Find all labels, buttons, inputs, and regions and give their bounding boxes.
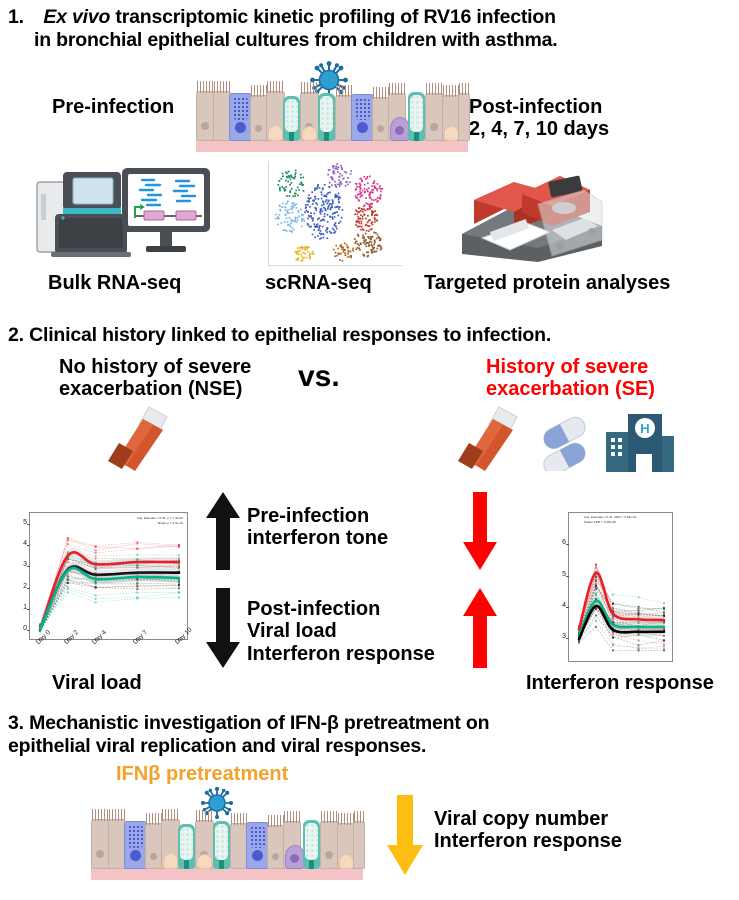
section-2-title: Clinical history linked to epithelial re… <box>29 324 551 346</box>
cluster-plot-icon <box>268 161 402 266</box>
chart-viral-load <box>29 512 188 640</box>
arrow-down-red-icon <box>462 492 498 570</box>
y-tick-label: 3 <box>15 561 27 568</box>
epithelial-cell-row <box>196 79 468 141</box>
infected-cell <box>351 94 374 141</box>
y-tick-mark <box>566 544 569 545</box>
infected-cell <box>124 821 147 869</box>
section-1-heading: 1. Ex vivo transcriptomic kinetic profil… <box>8 6 728 52</box>
y-tick-label: 5 <box>15 519 27 526</box>
post-infection-outcomes-label: Post-infection Viral load Interferon res… <box>247 598 435 665</box>
x-tick-mark <box>67 638 68 641</box>
nse-line2: exacerbation (NSE) <box>59 378 251 400</box>
section-3-number: 3. <box>8 712 24 734</box>
infected-cell <box>229 93 252 141</box>
y-tick-mark <box>566 576 569 577</box>
pre-infection-tone-label: Pre-infection interferon tone <box>247 505 388 550</box>
goblet-cell <box>283 96 300 141</box>
ciliated-cell <box>458 93 470 141</box>
goblet-cell <box>213 821 230 869</box>
epithelium-bottom <box>91 818 363 880</box>
arrow-up-red-icon <box>462 588 498 668</box>
pre-infection-label: Pre-infection <box>52 96 174 118</box>
section-1-title-rest: transcriptomic kinetic profiling of RV16… <box>110 6 556 28</box>
y-tick-mark <box>566 638 569 639</box>
annot-line2: Shape p = 2.5e-16 <box>128 521 183 526</box>
epithelial-cell-row <box>91 807 363 869</box>
tone-line1: Pre-infection <box>247 505 388 527</box>
section-3-heading: 3. Mechanistic investigation of IFN-β pr… <box>8 712 489 758</box>
pills-icon <box>538 415 600 471</box>
chart-left-caption: Viral load <box>52 672 142 694</box>
monitor-icon <box>120 166 216 262</box>
section-2-heading: 2. Clinical history linked to epithelial… <box>8 324 551 347</box>
y-tick-mark <box>27 630 30 631</box>
se-line1: History of severe <box>486 356 655 378</box>
immune-cell <box>285 845 305 869</box>
inhaler-icon <box>455 405 529 475</box>
section-2-number: 2. <box>8 324 24 346</box>
section-3-title-line2: epithelial viral replication and viral r… <box>8 735 489 758</box>
y-tick-mark <box>566 607 569 608</box>
s3-outcome-line2: Interferon response <box>434 830 622 852</box>
basal-cell <box>163 853 178 869</box>
y-tick-mark <box>27 524 30 525</box>
annot-line2: Shape FDR = 3.48e-05 <box>584 520 670 525</box>
section-1-number: 1. <box>8 6 24 28</box>
tone-line2: interferon tone <box>247 527 388 549</box>
epithelium-top <box>196 90 468 152</box>
annot-line1: Avg. Estimate = 0.61, p = 7.3e-05 <box>128 516 183 521</box>
se-label: History of severe exacerbation (SE) <box>486 356 655 401</box>
basal-cell <box>444 126 459 141</box>
post-infection-line1: Post-infection <box>469 96 609 118</box>
y-tick-mark <box>27 545 30 546</box>
inhaler-icon <box>105 405 179 475</box>
post-infection-label: Post-infection 2, 4, 7, 10 days <box>469 96 609 141</box>
y-tick-mark <box>27 609 30 610</box>
section-1-title-line2: in bronchial epithelial cultures from ch… <box>34 29 728 52</box>
outcome-line2: Viral load <box>247 620 435 642</box>
s3-outcome-line1: Viral copy number <box>434 808 622 830</box>
method-label-bulk-rnaseq: Bulk RNA-seq <box>48 272 181 294</box>
goblet-cell <box>408 92 425 141</box>
basal-cell <box>302 126 317 141</box>
post-infection-line2: 2, 4, 7, 10 days <box>469 118 609 140</box>
ifnb-pretreatment-label: IFNβ pretreatment <box>116 763 288 785</box>
arrow-up-black-icon <box>206 492 240 570</box>
y-tick-label: 4 <box>15 540 27 547</box>
outcome-line1: Post-infection <box>247 598 435 620</box>
y-tick-label: 5 <box>554 571 566 578</box>
x-tick-mark <box>178 638 179 641</box>
hospital-letter: H <box>640 421 649 436</box>
se-line2: exacerbation (SE) <box>486 378 655 400</box>
basal-cell <box>197 854 212 869</box>
ciliated-cell <box>353 821 365 869</box>
chart-right-caption: Interferon response <box>526 672 714 694</box>
vs-label: vs. <box>298 360 340 394</box>
chart-viral-load-svg <box>30 513 187 639</box>
goblet-cell <box>303 820 320 869</box>
section-3-outcome-label: Viral copy number Interferon response <box>434 808 622 853</box>
method-label-protein: Targeted protein analyses <box>424 272 670 294</box>
y-tick-label: 0 <box>15 625 27 632</box>
basal-cell <box>339 854 354 869</box>
goblet-cell <box>178 824 195 869</box>
chart-viral-load-annotation: Avg. Estimate = 0.61, p = 7.3e-05 Shape … <box>128 516 183 525</box>
y-tick-label: 3 <box>554 633 566 640</box>
basal-cell <box>268 125 283 141</box>
y-tick-label: 2 <box>15 583 27 590</box>
outcome-line3: Interferon response <box>247 643 435 665</box>
arrow-down-black-icon <box>206 588 240 668</box>
immune-cell <box>390 117 410 141</box>
x-tick-mark <box>136 638 137 641</box>
nse-line1: No history of severe <box>59 356 251 378</box>
plate-reader-icon <box>452 168 612 264</box>
y-tick-mark <box>27 588 30 589</box>
y-tick-label: 1 <box>15 604 27 611</box>
section-3-title-line1: Mechanistic investigation of IFN-β pretr… <box>29 712 489 734</box>
y-tick-label: 4 <box>554 602 566 609</box>
arrow-down-yellow-icon <box>385 795 425 875</box>
method-label-scrnaseq: scRNA-seq <box>265 272 372 294</box>
infected-cell <box>246 822 269 869</box>
chart-interferon-svg <box>569 513 672 661</box>
nse-label: No history of severe exacerbation (NSE) <box>59 356 251 401</box>
y-tick-mark <box>27 566 30 567</box>
goblet-cell <box>318 93 335 141</box>
chart-interferon-annotation: Avg. Estimate = 0.31, FDR = 3.53e-01 Sha… <box>584 515 670 524</box>
x-tick-mark <box>39 638 40 641</box>
section-1-title-italic: Ex vivo <box>43 6 110 28</box>
hospital-icon: H <box>602 412 676 474</box>
x-tick-mark <box>95 638 96 641</box>
chart-interferon-response <box>568 512 673 662</box>
y-tick-label: 6 <box>554 539 566 546</box>
